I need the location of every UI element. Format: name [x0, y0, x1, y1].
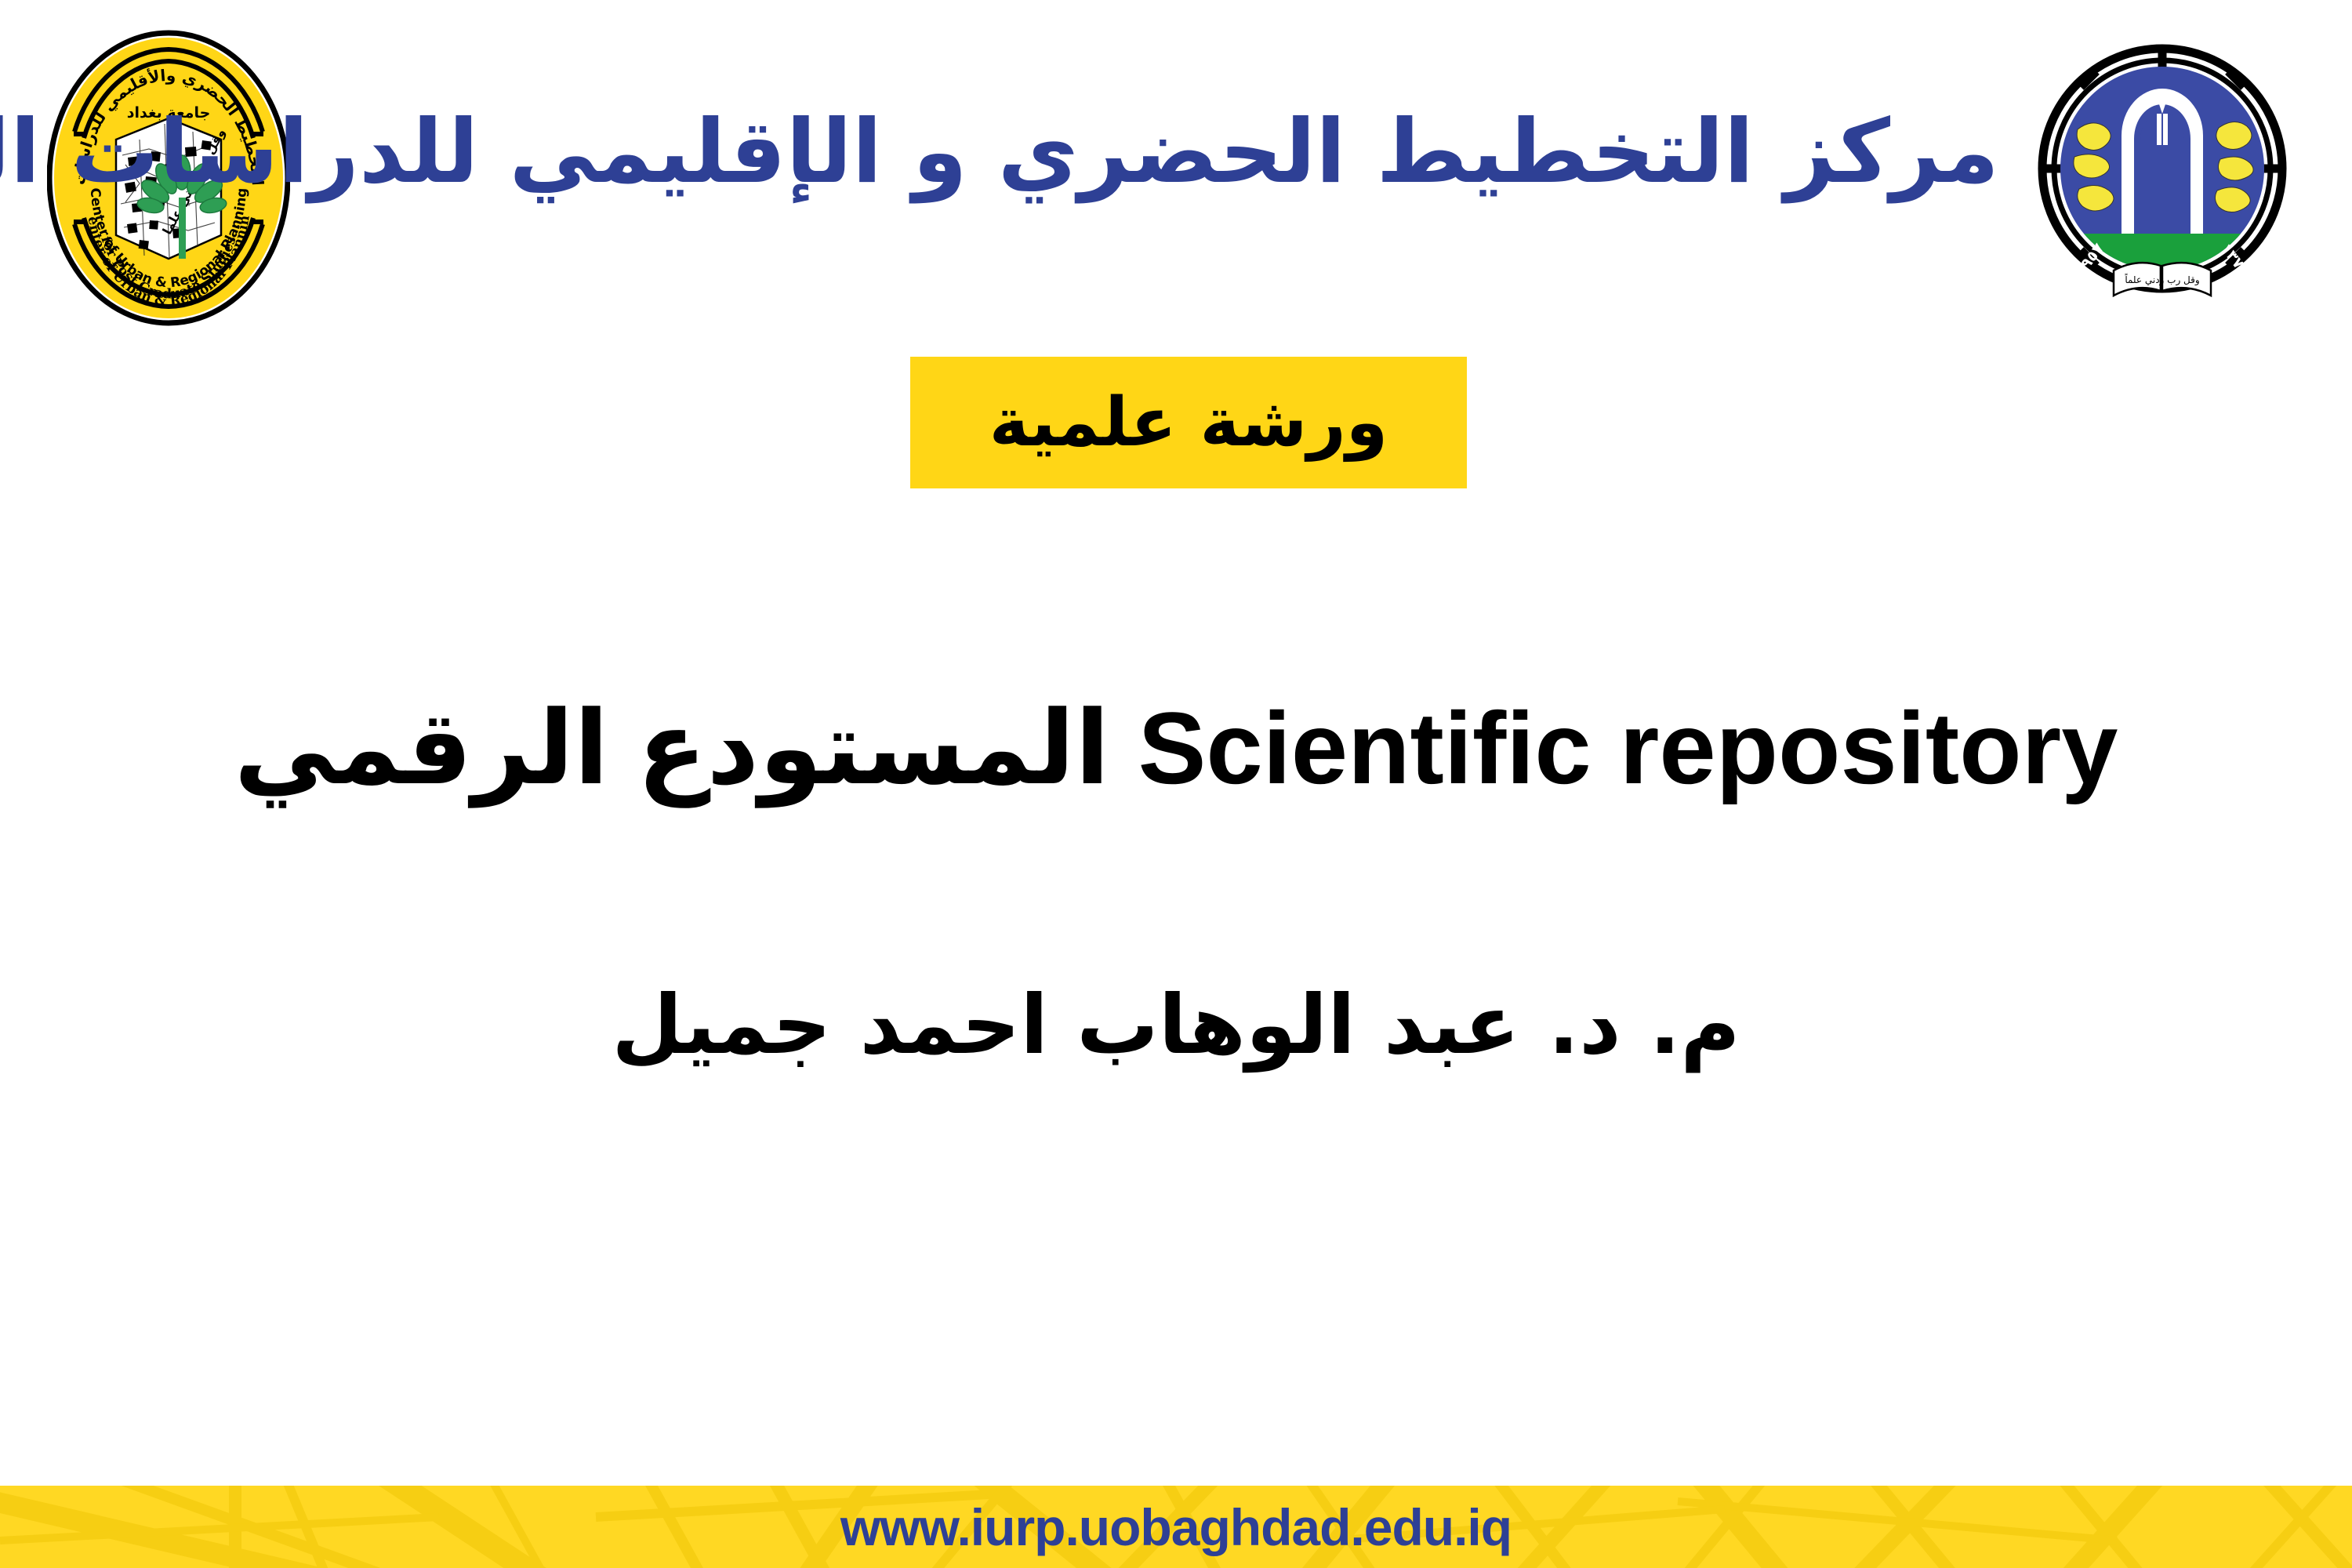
workshop-badge: ورشة علمية — [910, 357, 1467, 488]
presentation-slide: مركز التخطيط الحضري والأقليمي للدراسات ا… — [0, 0, 2352, 1568]
slide-main-title-latin: Scientific repository — [1138, 691, 2118, 805]
header-center-title: مركز التخطيط الحضري و الإقليمي للدراسات … — [337, 100, 1999, 204]
slide-main-title-space — [1110, 691, 1138, 805]
slide-main-title: Scientific repository المستودع الرقمي — [0, 690, 2352, 808]
slide-footer: www.iurp.uobaghdad.edu.iq — [0, 1486, 2352, 1568]
presenter-name: م. د. عبد الوهاب احمد جميل — [0, 976, 2352, 1074]
university-of-baghdad-logo: وقل رب زدني علماً ١٩٥٧ ١٣٧٨ — [2029, 35, 2296, 302]
svg-text:وقل رب زدني علماً: وقل رب زدني علماً — [2125, 273, 2200, 286]
footer-url[interactable]: www.iurp.uobaghdad.edu.iq — [0, 1486, 2352, 1568]
slide-main-title-arabic: المستودع الرقمي — [234, 691, 1110, 805]
slide-header: مركز التخطيط الحضري والأقليمي للدراسات ا… — [0, 0, 2352, 368]
workshop-badge-label: ورشة علمية — [989, 389, 1388, 456]
